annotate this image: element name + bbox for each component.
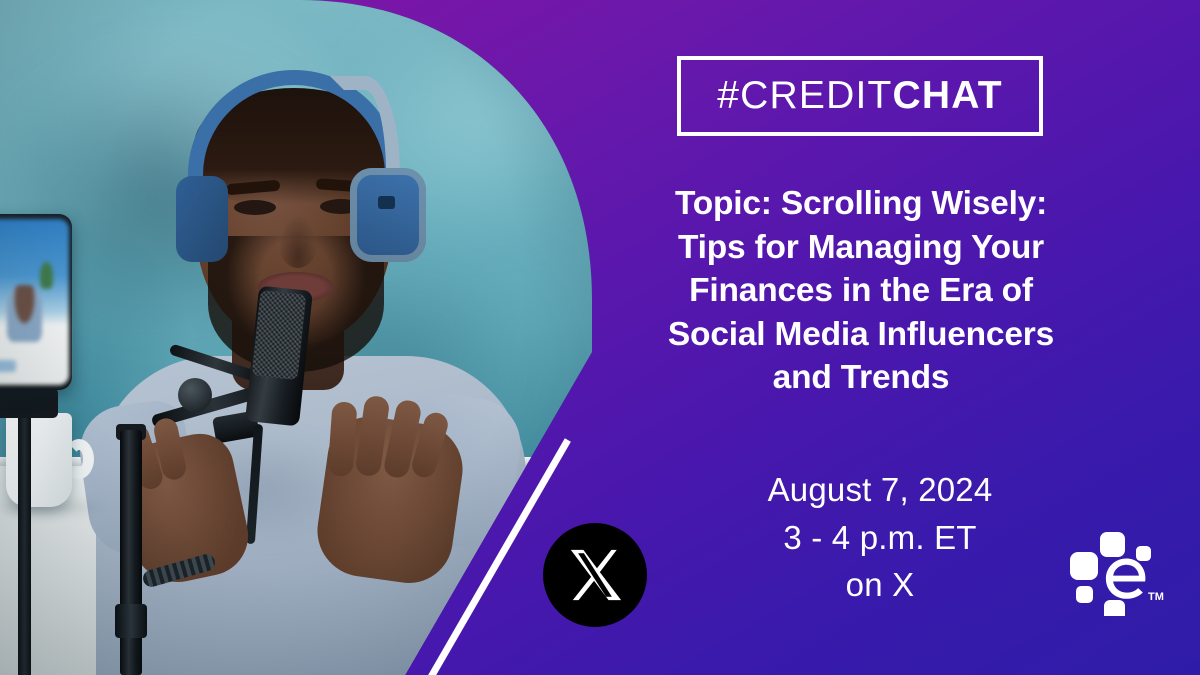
creditchat-badge-text: #CREDITCHAT bbox=[717, 74, 1003, 118]
screen-preview-plant bbox=[40, 262, 53, 289]
event-date: August 7, 2024 bbox=[690, 466, 1070, 514]
headphone-earcup-left bbox=[176, 176, 228, 262]
screen-preview-person bbox=[7, 285, 42, 341]
creditchat-badge: #CREDITCHAT bbox=[677, 56, 1043, 136]
x-icon bbox=[566, 546, 624, 604]
headphone-earcup-right bbox=[350, 168, 426, 262]
topic-line-5: and Trends bbox=[630, 356, 1092, 400]
experian-trademark-text: TM bbox=[1148, 591, 1164, 603]
x-logo-badge[interactable] bbox=[543, 523, 647, 627]
mic-stand-pole bbox=[120, 430, 142, 675]
person-nose bbox=[278, 214, 318, 268]
coffee-mug bbox=[6, 413, 72, 507]
promo-graphic: #CREDITCHAT Topic: Scrolling Wisely: Tip… bbox=[0, 0, 1200, 675]
event-details: August 7, 2024 3 - 4 p.m. ET on X bbox=[690, 466, 1070, 609]
smartphone-screen bbox=[0, 219, 69, 385]
badge-bold-part: CHAT bbox=[893, 74, 1003, 117]
screen-preview-caption bbox=[0, 360, 16, 372]
headphone-control-button bbox=[378, 196, 395, 209]
microphone-grille bbox=[252, 290, 307, 380]
topic-line-3: Finances in the Era of bbox=[630, 269, 1092, 313]
experian-logo-mark: TM bbox=[1064, 528, 1164, 616]
badge-hashtag-part: #CREDIT bbox=[717, 74, 892, 117]
topic-headline: Topic: Scrolling Wisely: Tips for Managi… bbox=[630, 182, 1092, 400]
mic-stand-adjuster-knob bbox=[115, 604, 147, 638]
topic-line-4: Social Media Influencers bbox=[630, 313, 1092, 357]
tripod-head bbox=[0, 388, 58, 418]
event-time: 3 - 4 p.m. ET bbox=[690, 514, 1070, 562]
topic-line-2: Tips for Managing Your bbox=[630, 226, 1092, 270]
mic-boom-joint bbox=[178, 378, 212, 412]
experian-logo: TM bbox=[1064, 528, 1164, 616]
finger-index-right bbox=[327, 401, 357, 477]
topic-line-1: Topic: Scrolling Wisely: bbox=[630, 182, 1092, 226]
tripod-leg bbox=[18, 410, 31, 675]
smartphone bbox=[0, 214, 72, 390]
event-platform: on X bbox=[690, 561, 1070, 609]
